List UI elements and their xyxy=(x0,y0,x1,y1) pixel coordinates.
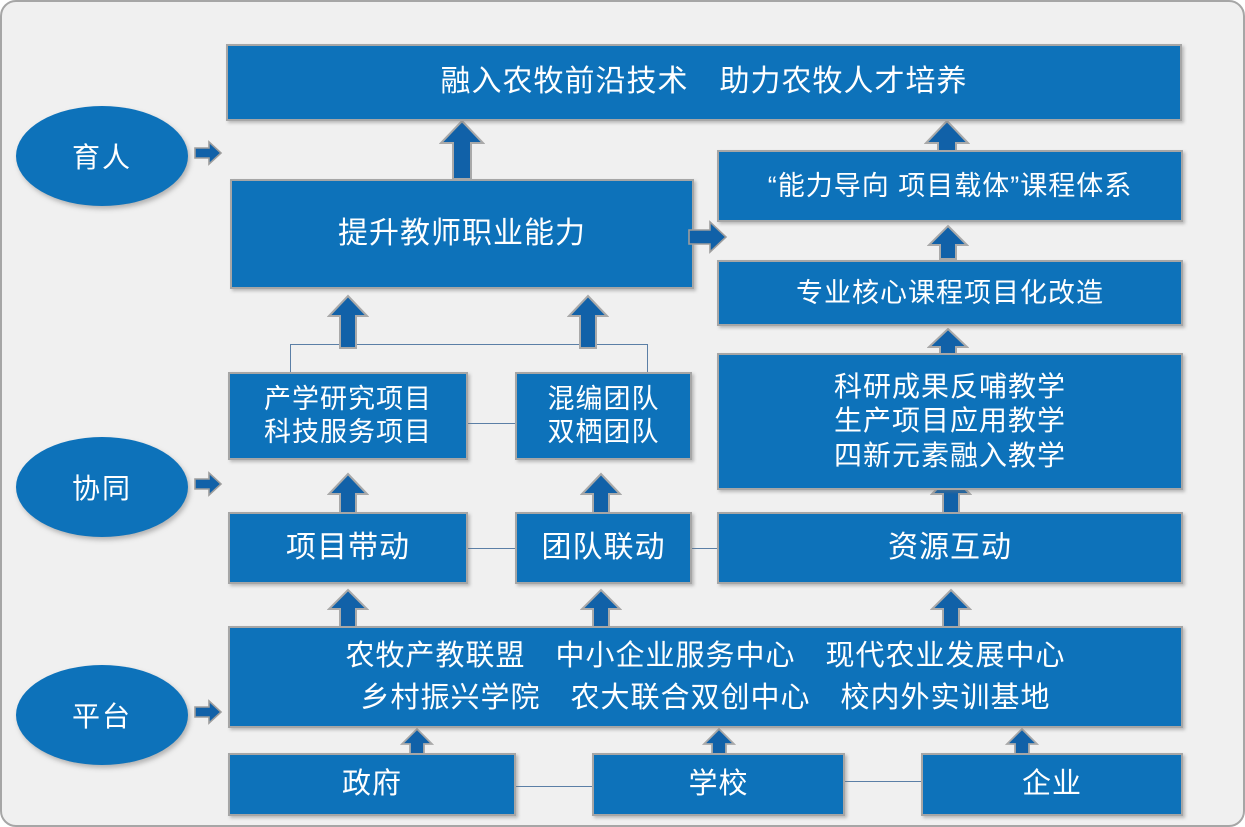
box-projects[interactable]: 产学研究项目 科技服务项目 xyxy=(228,372,468,460)
box-enterprise[interactable]: 企业 xyxy=(921,753,1183,816)
box-teacher-ability-label: 提升教师职业能力 xyxy=(338,216,586,253)
box-platform-label: 农牧产教联盟 中小企业服务中心 现代农业发展中心 乡村振兴学院 农大联合双创中心… xyxy=(345,635,1065,719)
box-resource-interaction[interactable]: 资源互动 xyxy=(717,512,1183,584)
box-school-label: 学校 xyxy=(688,767,748,802)
box-school[interactable]: 学校 xyxy=(592,753,845,816)
arrow-up-icon-teams-to-teacher xyxy=(567,294,609,350)
tier-ellipse-pingtai[interactable]: 平台 xyxy=(16,665,188,765)
box-project-drive[interactable]: 项目带动 xyxy=(228,512,468,584)
arrow-up-icon-drive-to-projects xyxy=(327,472,369,516)
arrow-right-icon-pingtai xyxy=(193,697,223,727)
diagram-canvas: 育人 协同 平台 融入农牧前沿技术 助力农牧人才培养 提 xyxy=(0,0,1245,827)
box-government[interactable]: 政府 xyxy=(228,753,516,816)
tier-label-xietong: 协同 xyxy=(72,467,132,507)
arrow-right-icon-teacher-to-course xyxy=(688,219,728,255)
box-teaching-merge[interactable]: 科研成果反哺教学 生产项目应用教学 四新元素融入教学 xyxy=(717,353,1183,490)
box-team-link-label: 团队联动 xyxy=(542,530,666,567)
tier-label-yuren: 育人 xyxy=(72,136,132,176)
arrow-up-icon-platform-to-link xyxy=(580,588,622,630)
box-teacher-ability[interactable]: 提升教师职业能力 xyxy=(230,179,694,289)
box-teams[interactable]: 混编团队 双栖团队 xyxy=(515,372,692,460)
box-government-label: 政府 xyxy=(342,767,402,802)
box-project-drive-label: 项目带动 xyxy=(286,530,410,567)
box-teams-label: 混编团队 双栖团队 xyxy=(548,383,660,449)
arrow-up-icon-platform-to-resource xyxy=(930,588,972,630)
arrow-up-icon-platform-to-drive xyxy=(327,588,369,630)
arrow-right-icon-yuren xyxy=(193,138,223,168)
box-teaching-merge-label: 科研成果反哺教学 生产项目应用教学 四新元素融入教学 xyxy=(834,370,1066,472)
connector-projects-to-teams xyxy=(468,423,516,424)
connector-link-to-resource xyxy=(692,548,718,549)
box-core-course-label: 专业核心课程项目化改造 xyxy=(796,277,1104,310)
box-projects-label: 产学研究项目 科技服务项目 xyxy=(264,383,432,449)
box-course-system[interactable]: “能力导向 项目载体”课程体系 xyxy=(717,150,1183,222)
connector-government-to-school xyxy=(516,786,592,787)
box-team-link[interactable]: 团队联动 xyxy=(515,512,692,584)
tier-label-pingtai: 平台 xyxy=(72,695,132,735)
box-top-goal-label: 融入农牧前沿技术 助力农牧人才培养 xyxy=(441,64,968,101)
box-course-system-label: “能力导向 项目载体”课程体系 xyxy=(768,170,1132,203)
arrow-up-icon-core-to-system xyxy=(927,224,969,260)
box-platform[interactable]: 农牧产教联盟 中小企业服务中心 现代农业发展中心 乡村振兴学院 农大联合双创中心… xyxy=(228,626,1183,728)
connector-school-to-enterprise xyxy=(845,781,921,782)
tier-ellipse-yuren[interactable]: 育人 xyxy=(16,106,188,206)
box-core-course[interactable]: 专业核心课程项目化改造 xyxy=(717,260,1183,326)
arrow-right-icon-xietong xyxy=(193,469,223,499)
arrow-up-icon-to-top-goal xyxy=(439,119,485,181)
tier-ellipse-xietong[interactable]: 协同 xyxy=(16,437,188,537)
arrow-up-icon-projects-to-teacher xyxy=(327,294,369,350)
box-resource-interaction-label: 资源互动 xyxy=(888,530,1012,567)
connector-drive-to-link xyxy=(468,548,516,549)
arrow-up-icon-link-to-teams xyxy=(580,472,622,516)
box-enterprise-label: 企业 xyxy=(1022,767,1082,802)
box-top-goal[interactable]: 融入农牧前沿技术 助力农牧人才培养 xyxy=(226,44,1182,121)
